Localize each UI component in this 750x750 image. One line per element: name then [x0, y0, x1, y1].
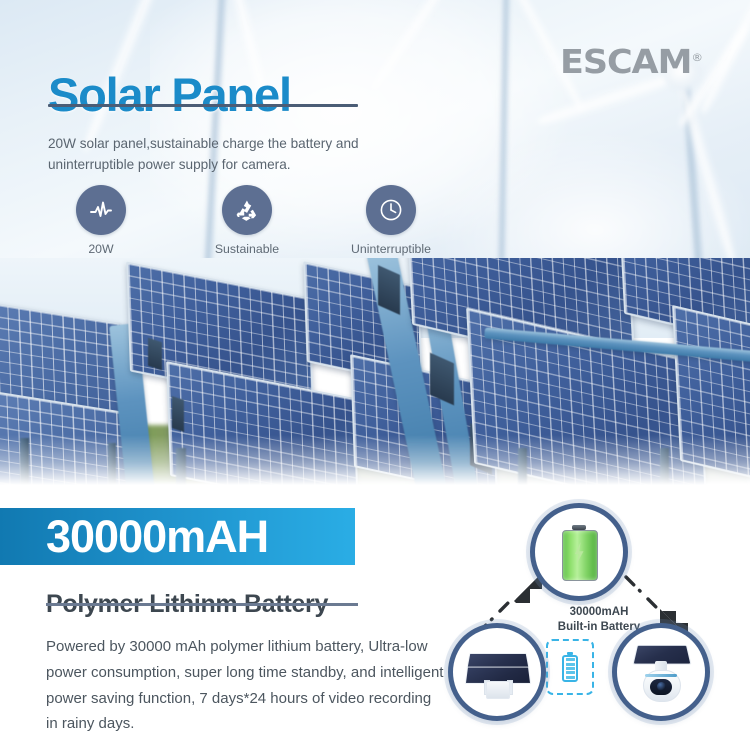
ptz-camera-icon: [628, 641, 694, 703]
green-battery-icon: [561, 525, 597, 579]
cyan-battery-icon: [562, 652, 578, 682]
solar-panel-node: [448, 623, 546, 721]
battery-indicator-badge: [546, 639, 594, 695]
trademark-symbol: ®: [691, 51, 702, 64]
feature-item-20w: 20W: [50, 185, 152, 256]
feature-item-sustainable: Sustainable: [196, 185, 298, 256]
feature-list: 20W Sustainable: [50, 185, 442, 256]
feature-item-uninterruptible: Uninterruptible: [340, 185, 442, 256]
battery-node: [530, 503, 628, 601]
battery-headline-banner: 30000mAH: [0, 508, 355, 565]
battery-description: Powered by 30000 mAh polymer lithium bat…: [46, 634, 446, 737]
battery-section: 30000mAH Polymer Lithinm Battery Powered…: [0, 485, 750, 750]
feature-label: 20W: [88, 242, 113, 256]
hero-section: ESCAM® Solar Panel 20W solar panel,susta…: [0, 0, 750, 485]
product-infographic: ESCAM® Solar Panel 20W solar panel,susta…: [0, 0, 750, 750]
solar-panel-field-photo: [0, 258, 750, 485]
recycle-icon: [222, 185, 272, 235]
hero-subtitle: 20W solar panel,sustainable charge the b…: [48, 133, 398, 175]
camera-node: [612, 623, 710, 721]
feature-label: Uninterruptible: [351, 242, 431, 256]
clock-icon: [366, 185, 416, 235]
feature-label: Sustainable: [215, 242, 279, 256]
title-divider: [48, 104, 358, 107]
escam-logo-text: ESCAM: [560, 42, 691, 81]
page-title: Solar Panel: [48, 67, 291, 122]
battery-flow-diagram: 30000mAH Built-in Battery: [432, 493, 750, 745]
battery-headline: 30000mAH: [46, 510, 268, 563]
battery-divider: [46, 603, 358, 606]
escam-logo: ESCAM®: [560, 42, 702, 81]
solar-panel-icon: [464, 644, 530, 700]
diagram-caption-line1: 30000mAH: [534, 605, 664, 620]
pulse-wave-icon: [76, 185, 126, 235]
